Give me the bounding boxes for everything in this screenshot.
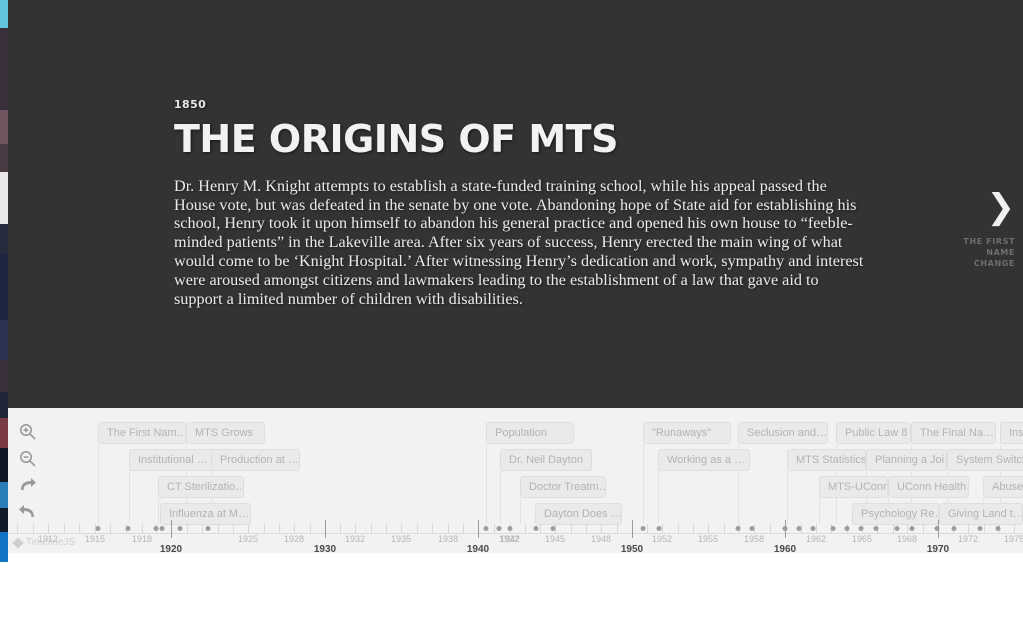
- era-card[interactable]: System Switch: [947, 449, 1023, 471]
- next-slide-label-line1: THE FIRST NAME: [951, 236, 1015, 258]
- axis-tick-minor: [984, 524, 985, 533]
- era-card[interactable]: Influenza at M…: [160, 503, 251, 525]
- timeline-marker-dot[interactable]: [178, 526, 183, 531]
- axis-tick-minor: [647, 524, 648, 533]
- axis-tick-minor: [401, 524, 402, 533]
- timeline-marker-dot[interactable]: [895, 526, 900, 531]
- axis-year-label: 1952: [652, 534, 672, 544]
- axis-tick-minor: [310, 524, 311, 533]
- era-card[interactable]: Inspe…: [1000, 422, 1023, 444]
- axis-tick-minor: [525, 524, 526, 533]
- era-card[interactable]: Seclusion and…: [738, 422, 828, 444]
- era-card[interactable]: UConn Health…: [888, 476, 969, 498]
- era-card[interactable]: The First Nam…: [98, 422, 186, 444]
- axis-tick-major: [478, 520, 479, 538]
- axis-year-label: 1918: [132, 534, 152, 544]
- timeline-app: 1850 THE ORIGINS OF MTS Dr. Henry M. Kni…: [0, 0, 1023, 617]
- slide-date: 1850: [174, 98, 874, 111]
- timeline-marker-dot[interactable]: [910, 526, 915, 531]
- timelinejs-logo-label: TimelineJS: [26, 537, 75, 548]
- axis-decade-label: 1950: [621, 544, 643, 553]
- axis-tick-minor: [494, 524, 495, 533]
- timeline-era-tracks: The First Nam…MTS GrowsPopulation"Runawa…: [8, 414, 1023, 524]
- axis-tick-minor: [571, 524, 572, 533]
- era-connector-stem: [787, 471, 788, 524]
- era-card[interactable]: MTS Statistics: [787, 449, 866, 471]
- axis-year-label: 1935: [391, 534, 411, 544]
- axis-year-label: 1962: [806, 534, 826, 544]
- era-connector-stem: [98, 444, 99, 524]
- era-card[interactable]: The Final Na…: [911, 422, 996, 444]
- timeline-navigation[interactable]: The First Nam…MTS GrowsPopulation"Runawa…: [8, 408, 1023, 553]
- timeline-marker-dot[interactable]: [206, 526, 211, 531]
- era-card[interactable]: Dr. Neil Dayton: [500, 449, 592, 471]
- axis-year-label: 1915: [85, 534, 105, 544]
- timeline-marker-dot[interactable]: [534, 526, 539, 531]
- axis-decade-label: 1930: [314, 544, 336, 553]
- era-card[interactable]: Giving Land t…: [939, 503, 1023, 525]
- era-card[interactable]: Public Law 8: [836, 422, 911, 444]
- axis-tick-minor: [678, 524, 679, 533]
- era-card[interactable]: Institutional …: [129, 449, 218, 471]
- axis-tick-minor: [233, 524, 234, 533]
- axis-year-label: 1925: [238, 534, 258, 544]
- era-connector-stem: [158, 498, 159, 524]
- slide-panel: 1850 THE ORIGINS OF MTS Dr. Henry M. Kni…: [8, 0, 1023, 408]
- axis-year-label: 1942: [500, 534, 520, 544]
- axis-tick-minor: [724, 524, 725, 533]
- axis-tick-minor: [202, 524, 203, 533]
- slide-title: THE ORIGINS OF MTS: [174, 120, 874, 159]
- timeline-marker-dot[interactable]: [160, 526, 165, 531]
- axis-year-label: 1945: [545, 534, 565, 544]
- timeline-marker-dot[interactable]: [811, 526, 816, 531]
- axis-tick-minor: [48, 524, 49, 533]
- axis-tick-minor: [79, 524, 80, 533]
- era-connector-stem: [643, 444, 644, 524]
- era-connector-stem: [658, 471, 659, 524]
- axis-tick-minor: [187, 524, 188, 533]
- era-connector-stem: [486, 444, 487, 524]
- axis-year-label: 1938: [438, 534, 458, 544]
- era-card[interactable]: Doctor Treatm…: [520, 476, 606, 498]
- axis-tick-minor: [662, 524, 663, 533]
- axis-tick-minor: [218, 524, 219, 533]
- axis-tick-minor: [907, 524, 908, 533]
- axis-tick-major: [632, 520, 633, 538]
- axis-tick-major: [171, 520, 172, 538]
- axis-tick-minor: [340, 524, 341, 533]
- slide-content: 1850 THE ORIGINS OF MTS Dr. Henry M. Kni…: [174, 98, 874, 308]
- axis-year-label: 1948: [591, 534, 611, 544]
- axis-decade-label: 1920: [160, 544, 182, 553]
- next-slide-button[interactable]: ❯ THE FIRST NAME CHANGE: [951, 190, 1023, 280]
- axis-tick-minor: [417, 524, 418, 533]
- era-connector-stem: [520, 498, 521, 524]
- axis-tick-minor: [816, 524, 817, 533]
- era-card[interactable]: Dayton Does …: [535, 503, 622, 525]
- slide-body-text: Dr. Henry M. Knight attempts to establis…: [174, 177, 864, 309]
- axis-tick-minor: [923, 524, 924, 533]
- era-card[interactable]: Production at …: [211, 449, 300, 471]
- era-card[interactable]: MTS Grows: [186, 422, 265, 444]
- timeline-marker-dot[interactable]: [736, 526, 741, 531]
- timeline-marker-dot[interactable]: [497, 526, 502, 531]
- axis-tick-minor: [968, 524, 969, 533]
- era-card[interactable]: Population: [486, 422, 574, 444]
- timeline-marker-dot[interactable]: [797, 526, 802, 531]
- axis-year-label: 1968: [897, 534, 917, 544]
- axis-tick-minor: [371, 524, 372, 533]
- timeline-marker-dot[interactable]: [874, 526, 879, 531]
- axis-year-label: 1958: [744, 534, 764, 544]
- axis-tick-minor: [64, 524, 65, 533]
- era-card[interactable]: MTS-UConn: [819, 476, 888, 498]
- timeline-marker-dot[interactable]: [935, 526, 940, 531]
- era-card[interactable]: Psychology Re…: [852, 503, 939, 525]
- timelinejs-logo[interactable]: TimelineJS: [14, 537, 75, 548]
- axis-year-label: 1965: [852, 534, 872, 544]
- axis-tick-minor: [142, 524, 143, 533]
- era-card[interactable]: "Runaways": [643, 422, 731, 444]
- timeline-marker-dot[interactable]: [978, 526, 983, 531]
- axis-tick-minor: [617, 524, 618, 533]
- axis-tick-minor: [586, 524, 587, 533]
- axis-year-label: 1928: [284, 534, 304, 544]
- axis-tick-minor: [448, 524, 449, 533]
- axis-tick-minor: [17, 524, 18, 533]
- axis-tick-minor: [355, 524, 356, 533]
- axis-tick-minor: [601, 524, 602, 533]
- next-slide-label-line2: CHANGE: [951, 258, 1015, 269]
- timeline-marker-dot[interactable]: [952, 526, 957, 531]
- timeline-marker-dot[interactable]: [996, 526, 1001, 531]
- timeline-marker-dot[interactable]: [845, 526, 850, 531]
- timeline-axis[interactable]: 1912191519181922192519281932193519381942…: [8, 524, 1023, 553]
- era-connector-stem: [819, 498, 820, 524]
- axis-tick-minor: [248, 524, 249, 533]
- axis-tick-minor: [294, 524, 295, 533]
- diamond-icon: [12, 537, 23, 548]
- axis-tick-minor: [110, 524, 111, 533]
- axis-tick-minor: [279, 524, 280, 533]
- chevron-right-icon: ❯: [951, 190, 1015, 224]
- timeline-marker-dot[interactable]: [657, 526, 662, 531]
- axis-tick-minor: [463, 524, 464, 533]
- axis-year-label: 1972: [958, 534, 978, 544]
- timeline-marker-dot[interactable]: [750, 526, 755, 531]
- next-slide-label: THE FIRST NAME CHANGE: [951, 236, 1015, 269]
- era-card[interactable]: Planning a Joi…: [866, 449, 947, 471]
- timeline-marker-dot[interactable]: [96, 526, 101, 531]
- timeline-marker-dot[interactable]: [783, 526, 788, 531]
- axis-tick-minor: [432, 524, 433, 533]
- axis-tick-minor: [770, 524, 771, 533]
- timeline-marker-dot[interactable]: [484, 526, 489, 531]
- axis-year-label: 1955: [698, 534, 718, 544]
- axis-decade-label: 1960: [774, 544, 796, 553]
- timeline-marker-dot[interactable]: [859, 526, 864, 531]
- era-card[interactable]: Abuse an…: [983, 476, 1023, 498]
- era-card[interactable]: Working as a …: [658, 449, 750, 471]
- axis-tick-minor: [540, 524, 541, 533]
- axis-tick-major: [325, 520, 326, 538]
- page-blank-area: [8, 553, 1023, 617]
- era-connector-stem: [500, 471, 501, 524]
- axis-tick-minor: [1014, 524, 1015, 533]
- axis-year-label: 1932: [345, 534, 365, 544]
- timeline-marker-dot[interactable]: [551, 526, 556, 531]
- axis-tick-minor: [386, 524, 387, 533]
- era-connector-stem: [129, 471, 130, 524]
- axis-tick-minor: [33, 524, 34, 533]
- timeline-marker-dot[interactable]: [126, 526, 131, 531]
- axis-decade-label: 1940: [467, 544, 489, 553]
- axis-tick-minor: [264, 524, 265, 533]
- timeline-marker-dot[interactable]: [154, 526, 159, 531]
- axis-tick-minor: [708, 524, 709, 533]
- era-card[interactable]: CT Sterilizatio…: [158, 476, 244, 498]
- axis-year-label: 1975: [1004, 534, 1023, 544]
- axis-decade-label: 1970: [927, 544, 949, 553]
- timeline-marker-dot[interactable]: [831, 526, 836, 531]
- background-window-sliver: [0, 0, 8, 617]
- timeline-marker-dot[interactable]: [508, 526, 513, 531]
- timeline-marker-dot[interactable]: [641, 526, 646, 531]
- axis-tick-minor: [693, 524, 694, 533]
